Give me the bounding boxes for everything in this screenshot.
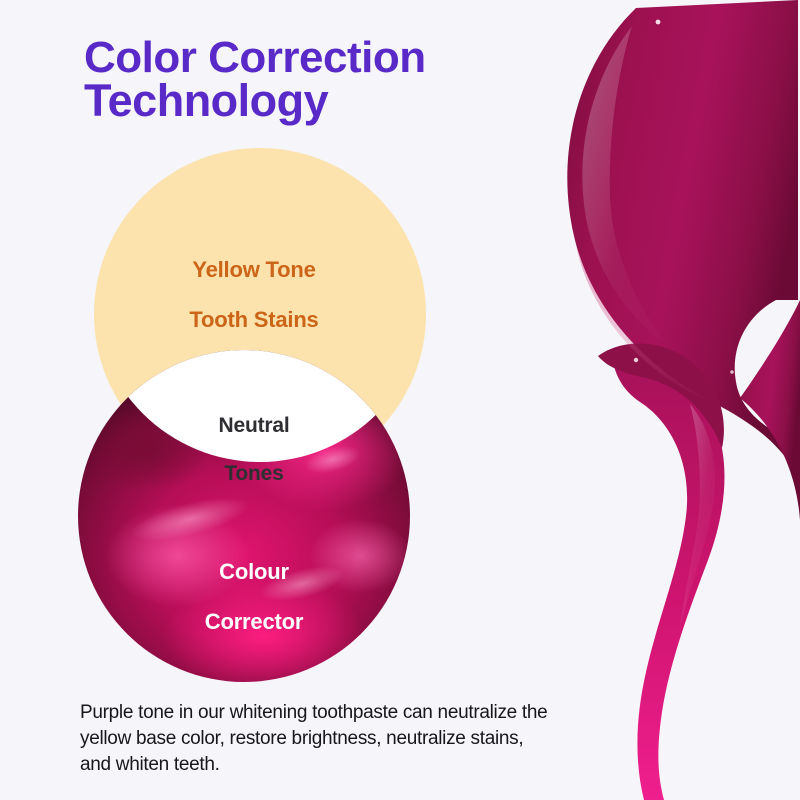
venn-diagram: Yellow Tone Tooth Stains Neutral Tones C… [78,148,430,682]
venn-label-neutral-tones-line-1: Neutral [219,414,290,437]
venn-label-neutral-tones: Neutral Tones [78,390,430,486]
description-text: Purple tone in our whitening toothpaste … [80,700,550,779]
gel-swirl-image [540,0,800,800]
venn-label-yellow-tone-line-2: Tooth Stains [189,307,318,332]
page-title-line-2: Technology [84,79,554,123]
page-title-line-1: Color Correction [84,36,554,79]
page-title: Color Correction Technology [84,36,554,123]
venn-label-colour-corrector-line-1: Colour [219,559,289,584]
infographic-canvas: Color Correction Technology Yellow Tone … [0,0,800,800]
venn-label-colour-corrector: Colour Corrector [78,534,430,634]
venn-label-neutral-tones-line-2: Tones [224,462,283,485]
venn-label-yellow-tone-line-1: Yellow Tone [192,257,315,282]
venn-label-colour-corrector-line-2: Corrector [205,609,303,634]
venn-label-yellow-tone: Yellow Tone Tooth Stains [78,232,430,332]
